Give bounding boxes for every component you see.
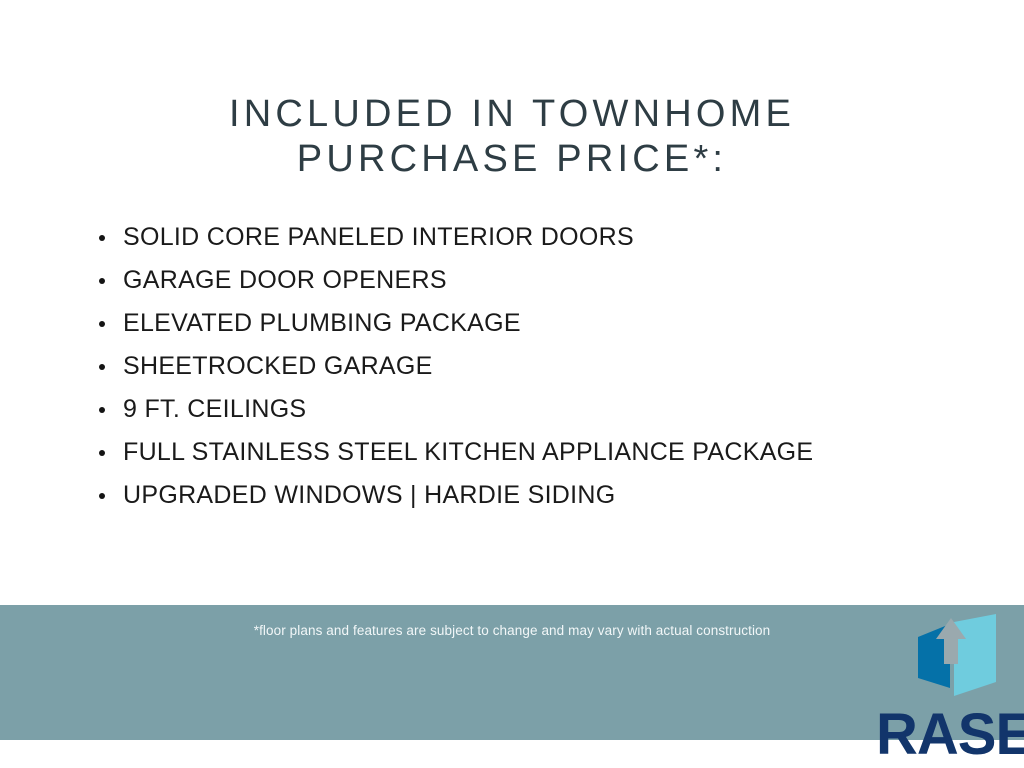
- page-title-line-1: INCLUDED IN TOWNHOME: [0, 92, 1024, 137]
- open-book-house-arrow-icon: [904, 612, 1008, 704]
- list-item: SOLID CORE PANELED INTERIOR DOORS: [96, 216, 996, 259]
- list-item: UPGRADED WINDOWS | HARDIE SIDING: [96, 474, 996, 517]
- logo-wordmark: RASE: [876, 704, 1024, 768]
- list-item: 9 FT. CEILINGS: [96, 388, 996, 431]
- brand-logo: RASE: [876, 612, 1024, 768]
- slide-canvas: INCLUDED IN TOWNHOME PURCHASE PRICE*: SO…: [0, 0, 1024, 768]
- list-item: SHEETROCKED GARAGE: [96, 345, 996, 388]
- included-features-list: SOLID CORE PANELED INTERIOR DOORS GARAGE…: [96, 216, 996, 517]
- page-title: INCLUDED IN TOWNHOME PURCHASE PRICE*:: [0, 92, 1024, 182]
- list-item: ELEVATED PLUMBING PACKAGE: [96, 302, 996, 345]
- footer-disclaimer: *floor plans and features are subject to…: [0, 623, 1024, 638]
- list-item: GARAGE DOOR OPENERS: [96, 259, 996, 302]
- list-item: FULL STAINLESS STEEL KITCHEN APPLIANCE P…: [96, 431, 996, 474]
- page-title-line-2: PURCHASE PRICE*:: [0, 137, 1024, 182]
